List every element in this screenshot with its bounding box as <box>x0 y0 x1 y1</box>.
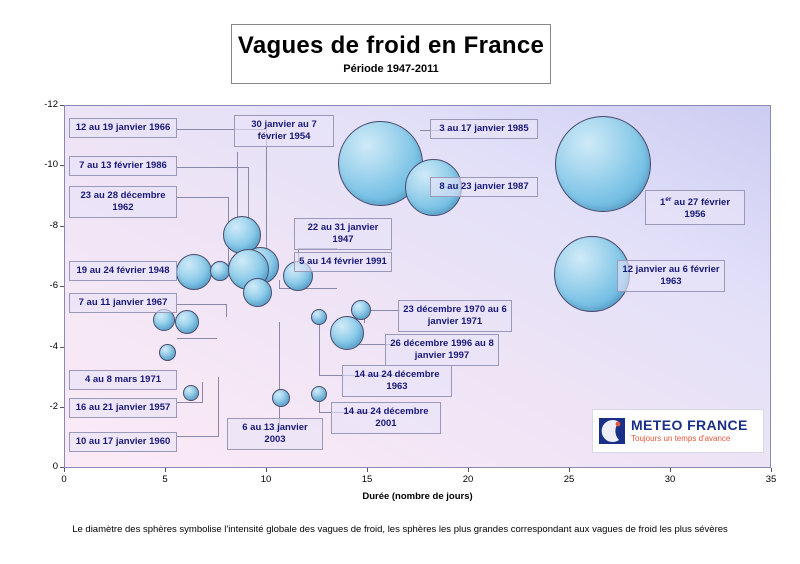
y-tick-label-6: 0 <box>24 461 58 472</box>
x-tick-mark-3 <box>367 468 368 472</box>
bubble-1971mars[interactable] <box>159 344 176 361</box>
leader-line-1971mars <box>177 338 217 339</box>
callout-1957: 16 au 21 janvier 1957 <box>69 398 177 418</box>
meteo-france-logo: METEO FRANCE Toujours un temps d'avance <box>592 409 764 453</box>
page-subtitle: Période 1947-2011 <box>343 63 438 75</box>
callout-1956: 1er au 27 février1956 <box>645 190 745 225</box>
plot-area: 12 au 19 janvier 1966 7 au 13 février 19… <box>64 105 771 468</box>
leader-line-1960-v <box>218 377 219 437</box>
y-tick-label-3: -6 <box>24 280 58 291</box>
callout-1956-text: 1er au 27 février1956 <box>660 197 730 220</box>
leader-line-1957 <box>177 402 203 403</box>
leader-line-1967-v <box>226 304 227 317</box>
meteo-france-globe-icon <box>599 418 625 444</box>
bubble-1960[interactable] <box>183 385 199 401</box>
callout-1967: 7 au 11 janvier 1967 <box>69 293 177 313</box>
bubble-1986[interactable] <box>243 278 272 307</box>
bubble-2001[interactable] <box>311 386 327 402</box>
callout-2001: 14 au 24 décembre 2001 <box>331 402 441 434</box>
x-tick-mark-6 <box>670 468 671 472</box>
callout-1987: 8 au 23 janvier 1987 <box>430 177 538 197</box>
callout-1962: 23 au 28 décembre 1962 <box>69 186 177 218</box>
y-tick-label-5: -2 <box>24 401 58 412</box>
callout-1966: 12 au 19 janvier 1966 <box>69 118 177 138</box>
x-tick-mark-7 <box>771 468 772 472</box>
x-axis-title: Durée (nombre de jours) <box>64 491 771 502</box>
x-tick-label-4: 20 <box>453 474 483 485</box>
callout-1986: 7 au 13 février 1986 <box>69 156 177 176</box>
callout-1963dec: 14 au 24 décembre 1963 <box>342 365 452 397</box>
x-tick-mark-1 <box>165 468 166 472</box>
y-tick-label-4: -4 <box>24 341 58 352</box>
leader-line-1966-v <box>266 129 267 257</box>
callout-1954: 30 janvier au 7 février 1954 <box>234 115 334 147</box>
leader-line-2003-v <box>279 322 280 430</box>
chart-page: Vagues de froid en France Période 1947-2… <box>0 0 800 564</box>
callout-1996: 26 décembre 1996 au 8 janvier 1997 <box>385 334 499 366</box>
callout-1970: 23 décembre 1970 au 6 janvier 1971 <box>398 300 512 332</box>
x-tick-label-5: 25 <box>554 474 584 485</box>
y-tick-label-1: -10 <box>24 159 58 170</box>
callout-1947: 22 au 31 janvier 1947 <box>294 218 392 250</box>
leader-line-1957-v <box>202 382 203 403</box>
y-tick-label-0: -12 <box>24 99 58 110</box>
x-tick-label-7: 35 <box>756 474 786 485</box>
leader-line-1991-v <box>279 280 280 289</box>
chart-footnote: Le diamètre des sphères symbolise l'inte… <box>0 524 800 535</box>
page-title: Vagues de froid en France <box>238 33 544 58</box>
bubble-1996[interactable] <box>330 316 364 350</box>
x-tick-label-0: 0 <box>49 474 79 485</box>
callout-1971mars: 4 au 8 mars 1971 <box>69 370 177 390</box>
x-tick-label-1: 5 <box>150 474 180 485</box>
bubble-1963dec[interactable] <box>311 309 327 325</box>
leader-line-1962 <box>177 197 229 198</box>
logo-tagline: Toujours un temps d'avance <box>631 434 748 444</box>
x-tick-mark-4 <box>468 468 469 472</box>
x-tick-label-2: 10 <box>251 474 281 485</box>
bubble-1957[interactable] <box>175 310 199 334</box>
x-tick-label-3: 15 <box>352 474 382 485</box>
leader-line-1967 <box>177 304 227 305</box>
callout-2003: 6 au 13 janvier 2003 <box>227 418 323 450</box>
bubble-1948[interactable] <box>176 254 212 290</box>
bubble-1962[interactable] <box>210 261 230 281</box>
y-tick-label-2: -8 <box>24 220 58 231</box>
x-tick-mark-0 <box>64 468 65 472</box>
bubble-1956[interactable] <box>555 116 651 212</box>
leader-line-1963dec-v <box>319 318 320 376</box>
x-tick-label-6: 30 <box>655 474 685 485</box>
x-tick-mark-2 <box>266 468 267 472</box>
chart-title-box: Vagues de froid en France Période 1947-2… <box>231 24 551 84</box>
bubble-2003[interactable] <box>272 389 290 407</box>
callout-1963jan: 12 janvier au 6 février 1963 <box>617 260 725 292</box>
callout-1948: 19 au 24 février 1948 <box>69 261 177 281</box>
callout-1960: 10 au 17 janvier 1960 <box>69 432 177 452</box>
leader-line-1960 <box>177 436 219 437</box>
leader-line-1986 <box>177 167 249 168</box>
callout-1985: 3 au 17 janvier 1985 <box>430 119 538 139</box>
callout-1991: 5 au 14 février 1991 <box>294 252 392 272</box>
logo-name: METEO FRANCE <box>631 418 748 433</box>
x-tick-mark-5 <box>569 468 570 472</box>
